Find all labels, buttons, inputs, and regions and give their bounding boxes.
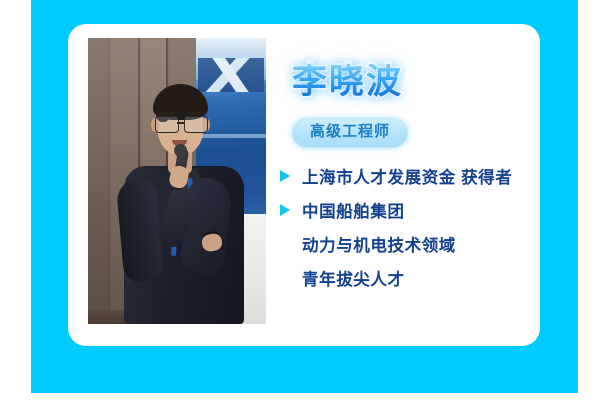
speaker-photo (88, 38, 266, 324)
credential-item: 上海市人才发展资金 获得者 (280, 164, 540, 198)
speaker-figure (118, 74, 250, 324)
glasses-bridge (177, 122, 184, 124)
photo-scene (88, 38, 266, 324)
glasses-icon (154, 116, 208, 131)
profile-card-stage: 李晓波 李晓波 高级工程师 上海市人才发展资金 获得者 中国船舶集团 动力与机电… (0, 0, 607, 410)
bullet-triangle-icon (280, 170, 294, 182)
bullet-triangle-icon (280, 204, 294, 216)
glasses-lens-left (155, 116, 179, 133)
profile-card: 李晓波 李晓波 高级工程师 上海市人才发展资金 获得者 中国船舶集团 动力与机电… (68, 24, 540, 346)
profile-details: 李晓波 李晓波 高级工程师 上海市人才发展资金 获得者 中国船舶集团 动力与机电… (280, 24, 540, 346)
credential-text: 中国船舶集团 (302, 198, 405, 222)
microphone-head (174, 144, 187, 157)
credential-item: 青年拔尖人才 (280, 266, 540, 300)
glasses-lens-right (184, 116, 208, 133)
title-badge: 高级工程师 (292, 118, 408, 148)
person-name: 李晓波 (292, 64, 403, 99)
credential-item: 中国船舶集团 (280, 198, 540, 232)
credential-text: 上海市人才发展资金 获得者 (302, 164, 512, 188)
credential-item: 动力与机电技术领域 (280, 232, 540, 266)
credentials-list: 上海市人才发展资金 获得者 中国船舶集团 动力与机电技术领域 青年拔尖人才 (280, 164, 540, 300)
credential-text: 动力与机电技术领域 (302, 232, 456, 256)
credential-text: 青年拔尖人才 (302, 266, 405, 290)
